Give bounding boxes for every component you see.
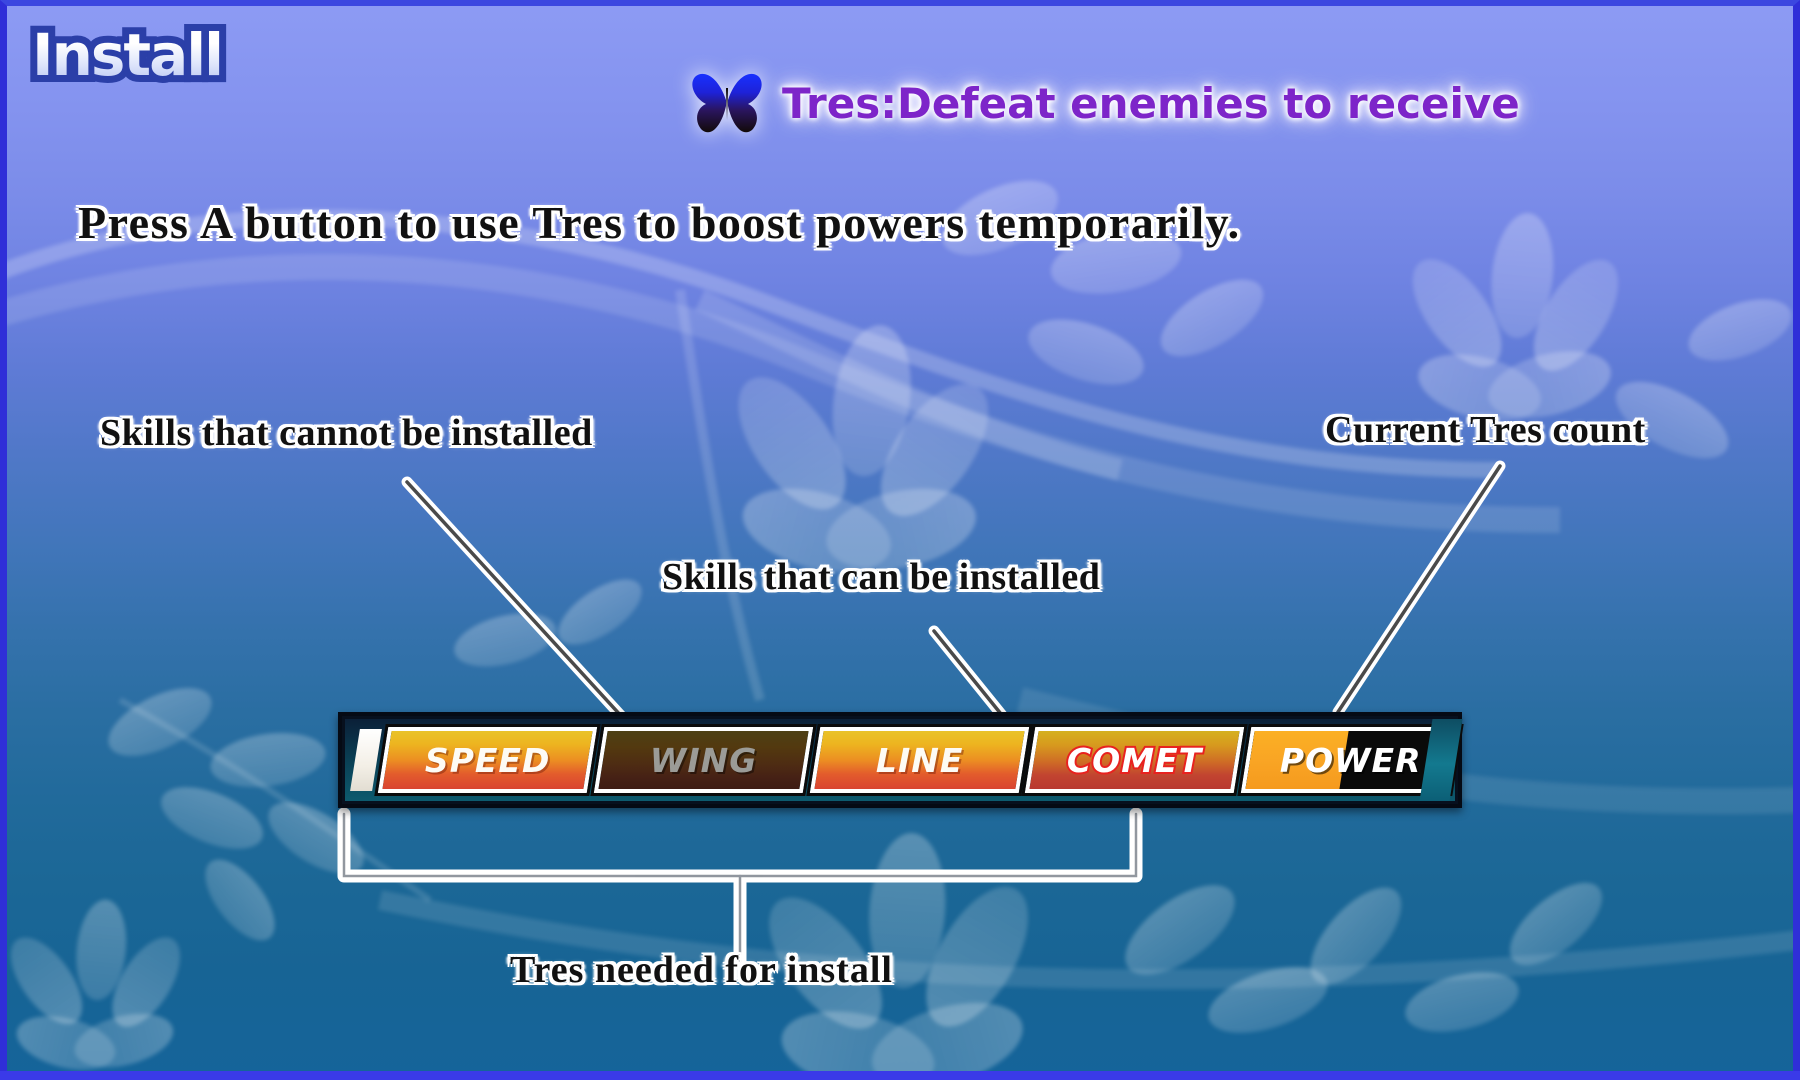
skill-slot-label: LINE bbox=[875, 741, 962, 780]
skill-slot-comet[interactable]: COMET bbox=[1025, 727, 1244, 793]
callout-tres-needed: Tres needed for install bbox=[510, 948, 893, 992]
skill-slot-wing[interactable]: WING bbox=[594, 727, 813, 793]
callout-cannot-install: Skills that cannot be installed bbox=[100, 411, 593, 455]
skill-slot-list: SPEEDWINGLINECOMETPOWER bbox=[383, 719, 1455, 801]
bar-left-cap-icon bbox=[350, 729, 382, 791]
skill-slot-label: SPEED bbox=[425, 741, 550, 780]
game-help-screen: Install Install Tres:Defeat enemies to r… bbox=[0, 0, 1800, 1080]
skill-slot-label: POWER bbox=[1280, 741, 1422, 780]
callout-current-tres-count: Current Tres count bbox=[1325, 408, 1646, 452]
skill-slot-speed[interactable]: SPEED bbox=[378, 727, 597, 793]
skill-slot-label: WING bbox=[650, 741, 757, 780]
background-floral-art bbox=[0, 0, 1800, 1080]
skill-slot-line[interactable]: LINE bbox=[809, 727, 1028, 793]
skill-bar[interactable]: SPEEDWINGLINECOMETPOWER bbox=[338, 712, 1462, 808]
tres-header: Tres:Defeat enemies to receive bbox=[690, 70, 1520, 136]
page-title-fill: Install bbox=[32, 26, 222, 84]
callout-can-install: Skills that can be installed bbox=[662, 555, 1100, 599]
tres-header-label: Tres:Defeat enemies to receive bbox=[782, 79, 1520, 128]
instruction-text: Press A button to use Tres to boost powe… bbox=[78, 196, 1241, 249]
butterfly-icon bbox=[690, 70, 764, 136]
skill-slot-label: COMET bbox=[1067, 741, 1202, 780]
skill-bar-inner: SPEEDWINGLINECOMETPOWER bbox=[345, 719, 1455, 801]
floral-vines-svg bbox=[0, 0, 1800, 1080]
